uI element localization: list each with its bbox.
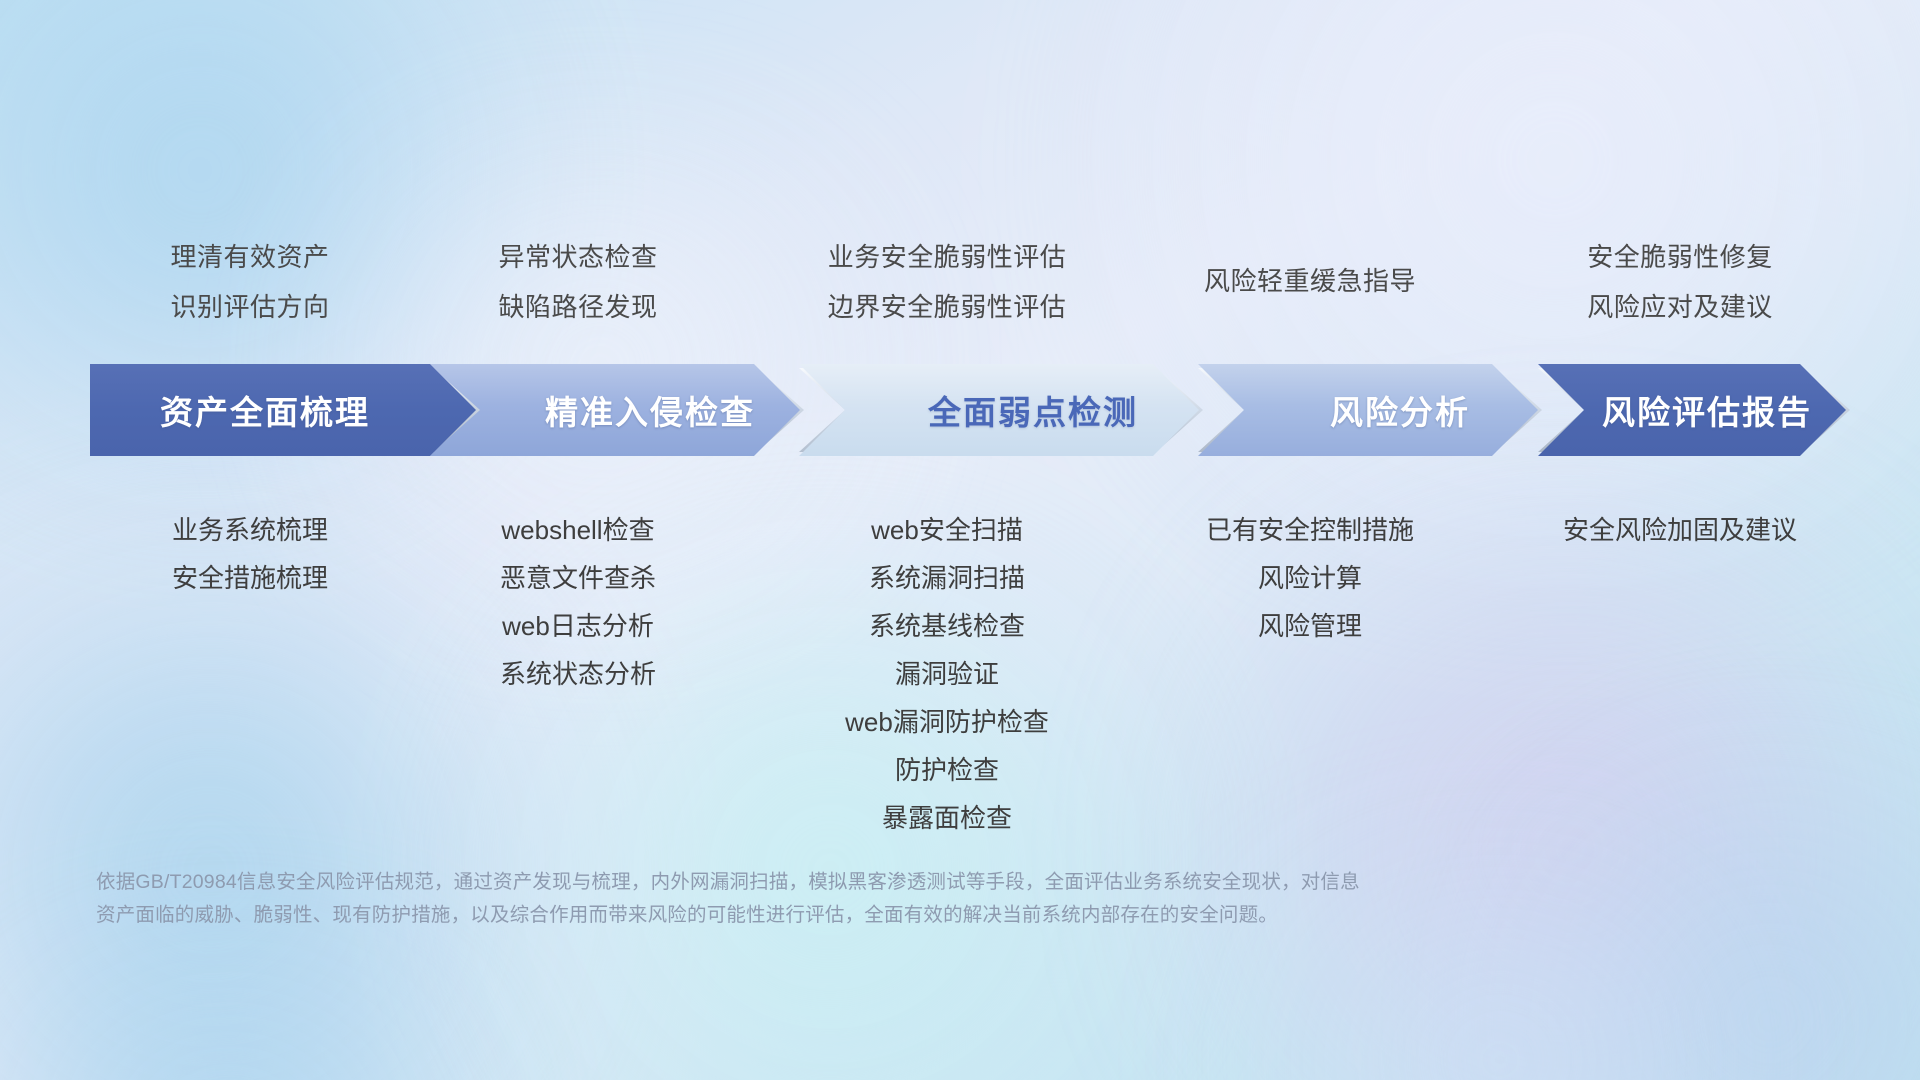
bottom-column-2: webshell检查 恶意文件查杀 web日志分析 系统状态分析 (398, 506, 758, 698)
footer-line-2: 资产面临的威胁、脆弱性、现有防护措施，以及综合作用而带来风险的可能性进行评估，全… (96, 899, 1596, 932)
bottom-item: 漏洞验证 (752, 650, 1142, 698)
stage-arrow-1[interactable]: 资产全面梳理 (90, 364, 480, 456)
top-caption-column-3: 业务安全脆弱性评估 边界安全脆弱性评估 (762, 232, 1132, 332)
top-caption-column-4: 风险轻重缓急指导 (1130, 256, 1490, 306)
top-caption-column-2: 异常状态检查 缺陷路径发现 (418, 232, 738, 332)
bottom-item: 风险管理 (1130, 602, 1490, 650)
top-caption-line: 边界安全脆弱性评估 (762, 282, 1132, 332)
bottom-item: 风险计算 (1130, 554, 1490, 602)
bottom-item: 防护检查 (752, 746, 1142, 794)
top-caption-line: 缺陷路径发现 (418, 282, 738, 332)
top-caption-line: 理清有效资产 (90, 232, 410, 282)
stage-arrow-3-label: 全面弱点检测 (799, 364, 1249, 456)
bottom-item: 安全风险加固及建议 (1500, 506, 1860, 554)
bottom-column-5: 安全风险加固及建议 (1500, 506, 1860, 554)
footer-line-1: 依据GB/T20984信息安全风险评估规范，通过资产发现与梳理，内外网漏洞扫描，… (96, 866, 1596, 899)
stage-arrow-3[interactable]: 全面弱点检测 (799, 364, 1249, 456)
stage-arrow-1-label: 资产全面梳理 (90, 364, 480, 456)
top-caption-line: 异常状态检查 (418, 232, 738, 282)
bottom-item: web日志分析 (398, 602, 758, 650)
bottom-item: web安全扫描 (752, 506, 1142, 554)
top-caption-column-5: 安全脆弱性修复 风险应对及建议 (1510, 232, 1850, 332)
bottom-column-1: 业务系统梳理 安全措施梳理 (70, 506, 430, 602)
top-caption-line: 识别评估方向 (90, 282, 410, 332)
bottom-item: 恶意文件查杀 (398, 554, 758, 602)
stage-arrow-4-label: 风险分析 (1198, 364, 1588, 456)
bottom-item: 安全措施梳理 (70, 554, 430, 602)
stage-arrow-2-label: 精准入侵检查 (430, 364, 850, 456)
top-caption-line: 风险应对及建议 (1510, 282, 1850, 332)
bottom-item: 业务系统梳理 (70, 506, 430, 554)
top-caption-line: 安全脆弱性修复 (1510, 232, 1850, 282)
stage-arrow-2[interactable]: 精准入侵检查 (430, 364, 850, 456)
top-caption-column-1: 理清有效资产 识别评估方向 (90, 232, 410, 332)
bottom-item: webshell检查 (398, 506, 758, 554)
bottom-item: 系统基线检查 (752, 602, 1142, 650)
footer-description: 依据GB/T20984信息安全风险评估规范，通过资产发现与梳理，内外网漏洞扫描，… (96, 866, 1596, 932)
stage-arrow-4[interactable]: 风险分析 (1198, 364, 1588, 456)
top-caption-line: 风险轻重缓急指导 (1130, 256, 1490, 306)
bottom-item: 已有安全控制措施 (1130, 506, 1490, 554)
bottom-column-4: 已有安全控制措施 风险计算 风险管理 (1130, 506, 1490, 650)
bottom-item: 系统状态分析 (398, 650, 758, 698)
stage-arrow-banner: 资产全面梳理 (90, 364, 1850, 456)
bottom-column-3: web安全扫描 系统漏洞扫描 系统基线检查 漏洞验证 web漏洞防护检查 防护检… (752, 506, 1142, 842)
bottom-item: web漏洞防护检查 (752, 698, 1142, 746)
bottom-item: 暴露面检查 (752, 794, 1142, 842)
top-caption-line: 业务安全脆弱性评估 (762, 232, 1132, 282)
bottom-item: 系统漏洞扫描 (752, 554, 1142, 602)
process-diagram: 理清有效资产 识别评估方向 异常状态检查 缺陷路径发现 业务安全脆弱性评估 边界… (0, 0, 1920, 1080)
